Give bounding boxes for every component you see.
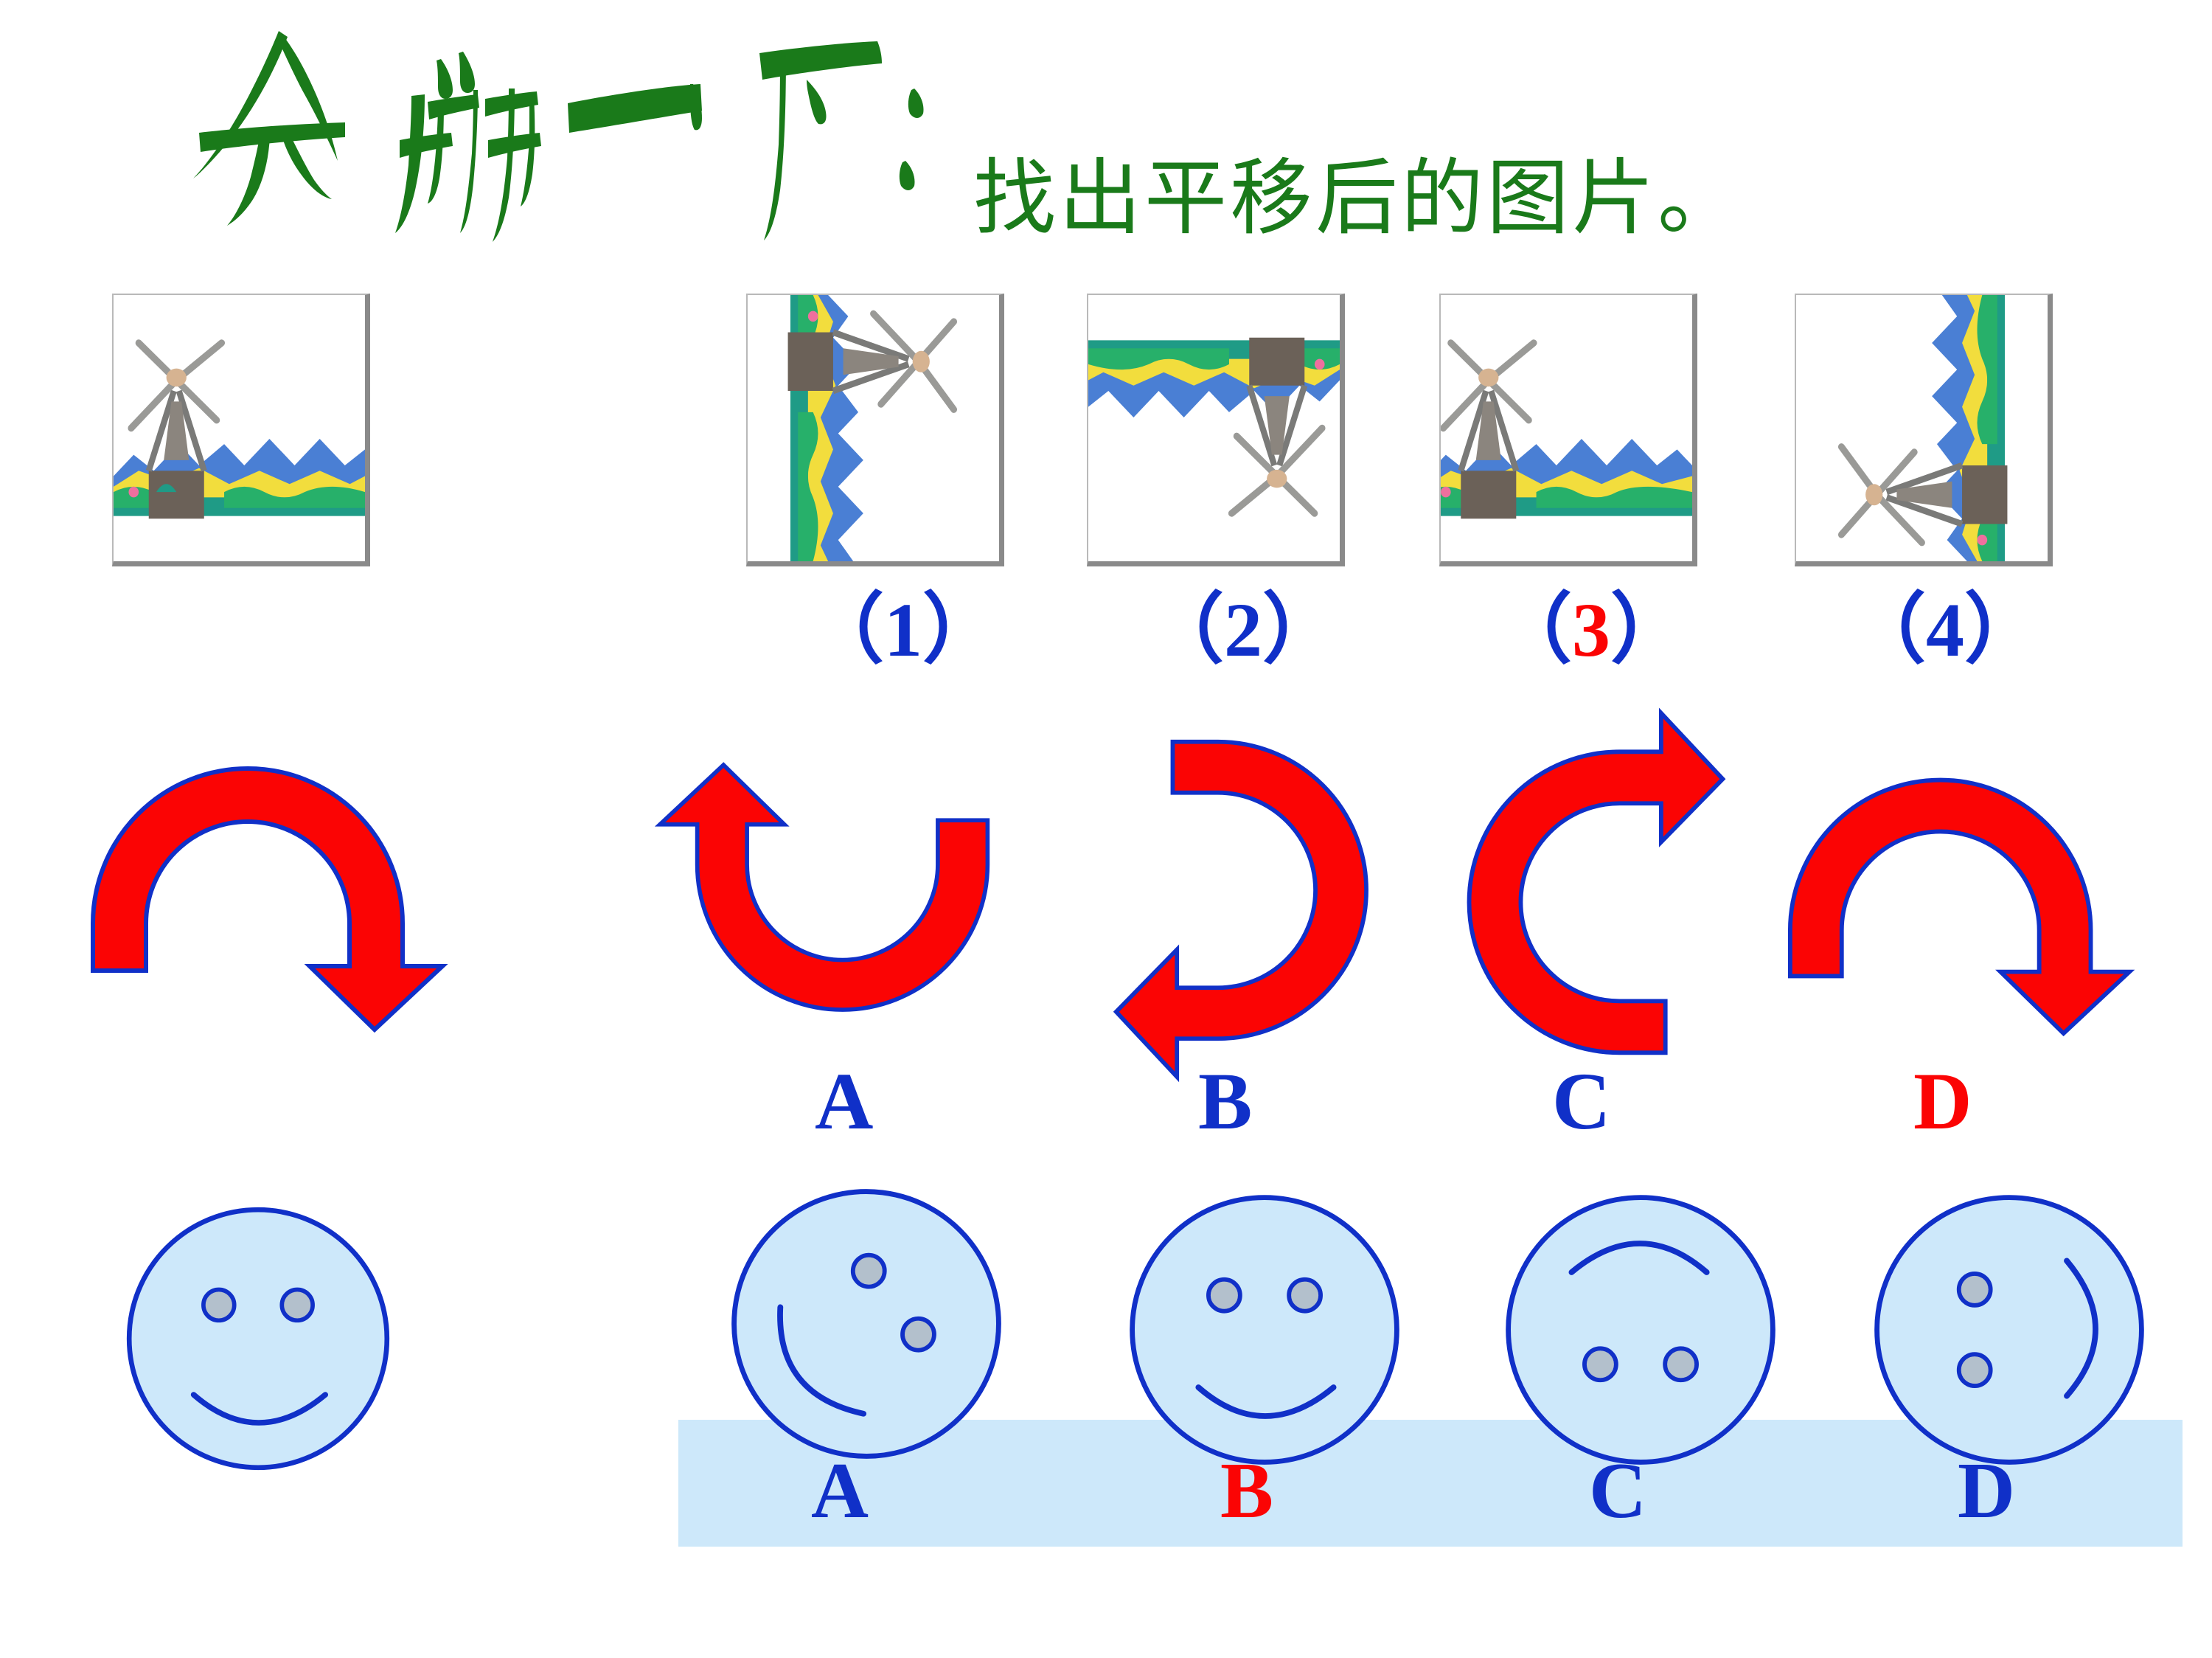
face-label-d: D <box>1958 1446 2015 1537</box>
windmill-label-4: （4） <box>1849 566 2041 678</box>
windmill-label-1: （1） <box>807 566 999 678</box>
windmill-original <box>112 294 370 566</box>
paren-close: ） <box>1964 588 2041 673</box>
arrow-label-c: C <box>1552 1055 1610 1148</box>
face-original <box>118 1199 398 1479</box>
face-label-b: B <box>1220 1446 1273 1537</box>
option-number: 1 <box>884 586 922 674</box>
option-number: 4 <box>1926 586 1964 674</box>
face-option-c[interactable] <box>1497 1186 1784 1474</box>
paren-open: （ <box>807 588 884 673</box>
arrow-label-b: B <box>1198 1055 1252 1148</box>
face-shape <box>129 1210 387 1468</box>
face-option-b[interactable] <box>1121 1186 1408 1474</box>
windmill-option-1[interactable] <box>746 294 1004 566</box>
paren-close: ） <box>922 588 999 673</box>
paren-close: ） <box>1610 588 1687 673</box>
face-option-d[interactable] <box>1865 1186 2153 1474</box>
arrow-original <box>88 782 442 1033</box>
page-title <box>111 7 981 243</box>
paren-open: （ <box>1495 588 1572 673</box>
arrow-label-a: A <box>815 1055 873 1148</box>
arrow-option-a[interactable] <box>660 752 992 1003</box>
slide-canvas: 找出平移后的图片。 <box>0 0 2212 1658</box>
paren-open: （ <box>1147 588 1224 673</box>
arrow-option-d[interactable] <box>1784 793 2131 1036</box>
paren-close: ） <box>1262 588 1339 673</box>
arrow-shape <box>93 769 442 1030</box>
face-label-a: A <box>811 1446 869 1537</box>
face-label-c: C <box>1589 1446 1646 1537</box>
arrow-option-c[interactable] <box>1482 712 1733 1058</box>
option-number: 3 <box>1572 586 1610 674</box>
windmill-option-4[interactable] <box>1795 294 2053 566</box>
paren-open: （ <box>1849 588 1926 673</box>
windmill-option-3[interactable] <box>1439 294 1697 566</box>
subtitle-text: 找出平移后的图片。 <box>973 131 1743 251</box>
option-number: 2 <box>1224 586 1262 674</box>
face-option-a[interactable] <box>723 1180 1010 1468</box>
arrow-label-d: D <box>1913 1055 1972 1148</box>
windmill-label-2: （2） <box>1147 566 1339 678</box>
windmill-option-2[interactable] <box>1087 294 1345 566</box>
arrow-option-b[interactable] <box>1106 738 1357 1077</box>
windmill-label-3: （3） <box>1495 566 1687 678</box>
